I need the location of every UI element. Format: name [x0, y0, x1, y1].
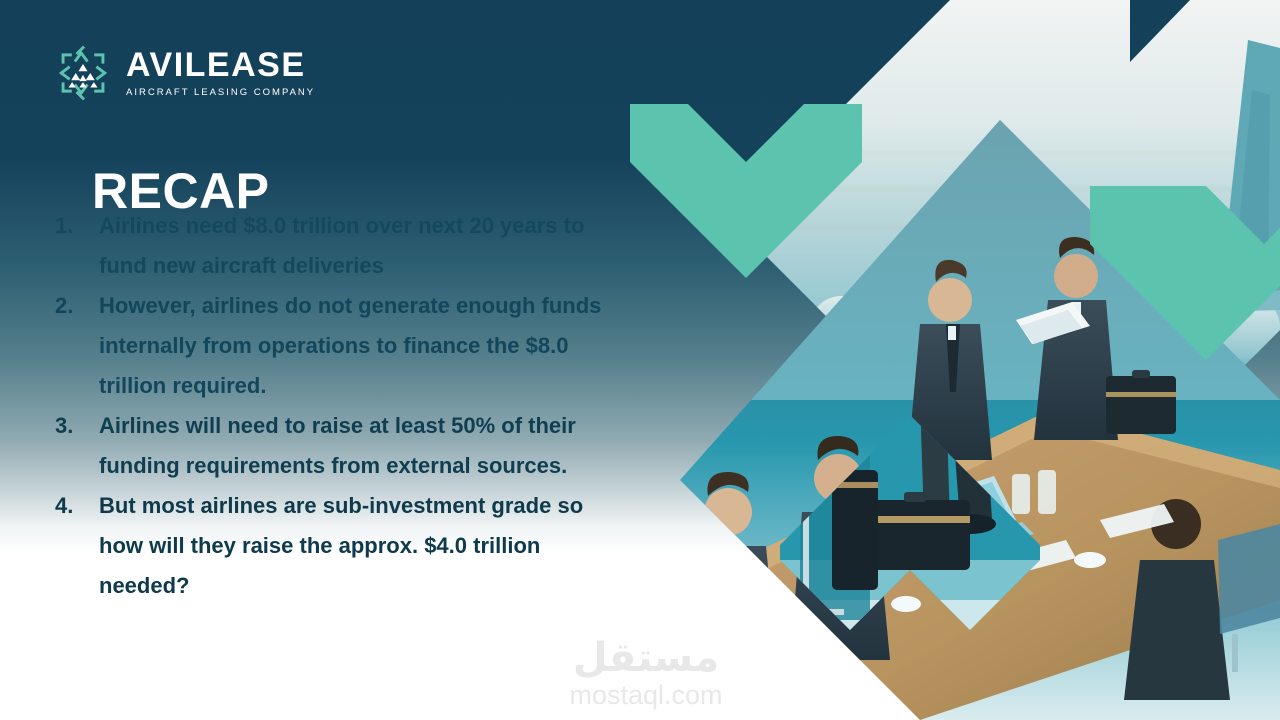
list-item: 3. Airlines will need to raise at least …: [55, 406, 610, 486]
logo-tagline: AIRCRAFT LEASING COMPANY: [126, 88, 315, 98]
list-item-text: Airlines will need to raise at least 50%…: [99, 406, 610, 486]
brand-logo[interactable]: AVILEASE AIRCRAFT LEASING COMPANY: [54, 44, 315, 102]
list-item-text: Airlines need $8.0 trillion over next 20…: [99, 206, 610, 286]
slide-canvas: AVILEASE AIRCRAFT LEASING COMPANY RECAP …: [0, 0, 1280, 720]
list-item-number: 1.: [55, 206, 99, 246]
list-item-number: 4.: [55, 486, 99, 526]
watermark: مستقل mostaql.com: [556, 638, 736, 709]
logo-text-block: AVILEASE AIRCRAFT LEASING COMPANY: [126, 48, 315, 98]
corner-wedge-navy: [1130, 0, 1280, 130]
list-item-number: 2.: [55, 286, 99, 326]
watermark-arabic: مستقل: [556, 638, 736, 678]
recap-list: 1. Airlines need $8.0 trillion over next…: [55, 206, 610, 606]
list-item: 1. Airlines need $8.0 trillion over next…: [55, 206, 610, 286]
list-item-text: However, airlines do not generate enough…: [99, 286, 610, 406]
watermark-latin: mostaql.com: [556, 682, 736, 709]
list-item: 4. But most airlines are sub-investment …: [55, 486, 610, 606]
logo-wordmark: AVILEASE: [126, 48, 315, 82]
list-item-number: 3.: [55, 406, 99, 446]
list-item: 2. However, airlines do not generate eno…: [55, 286, 610, 406]
list-item-text: But most airlines are sub-investment gra…: [99, 486, 610, 606]
avilease-star-mark: [54, 44, 112, 102]
